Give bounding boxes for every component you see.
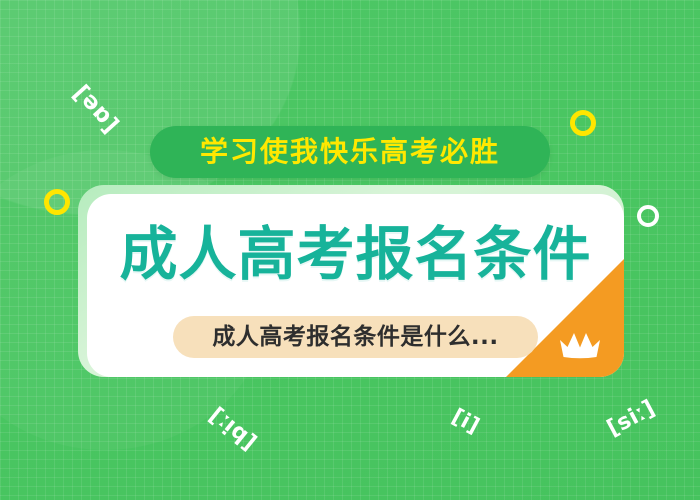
page-title: 成人高考报名条件 bbox=[87, 225, 624, 283]
slogan-banner: 学习使我快乐高考必胜 bbox=[150, 126, 550, 178]
crown-icon bbox=[558, 329, 602, 361]
main-card: 成人高考报名条件 成人高考报名条件是什么... bbox=[87, 194, 624, 377]
subtitle-pill: 成人高考报名条件是什么... bbox=[173, 316, 538, 358]
slogan-banner-text: 学习使我快乐高考必胜 bbox=[200, 138, 500, 166]
ring-yellow-right-icon bbox=[570, 110, 596, 136]
subtitle-text: 成人高考报名条件是什么... bbox=[212, 326, 498, 349]
poster-canvas: [ɑe] [biː] [i] [siː] 学习使我快乐高考必胜 成人高考报名条件… bbox=[0, 0, 700, 500]
ring-white-right-icon bbox=[637, 205, 659, 227]
main-card-container: 成人高考报名条件 成人高考报名条件是什么... bbox=[78, 185, 624, 377]
ring-yellow-left-icon bbox=[44, 189, 70, 215]
